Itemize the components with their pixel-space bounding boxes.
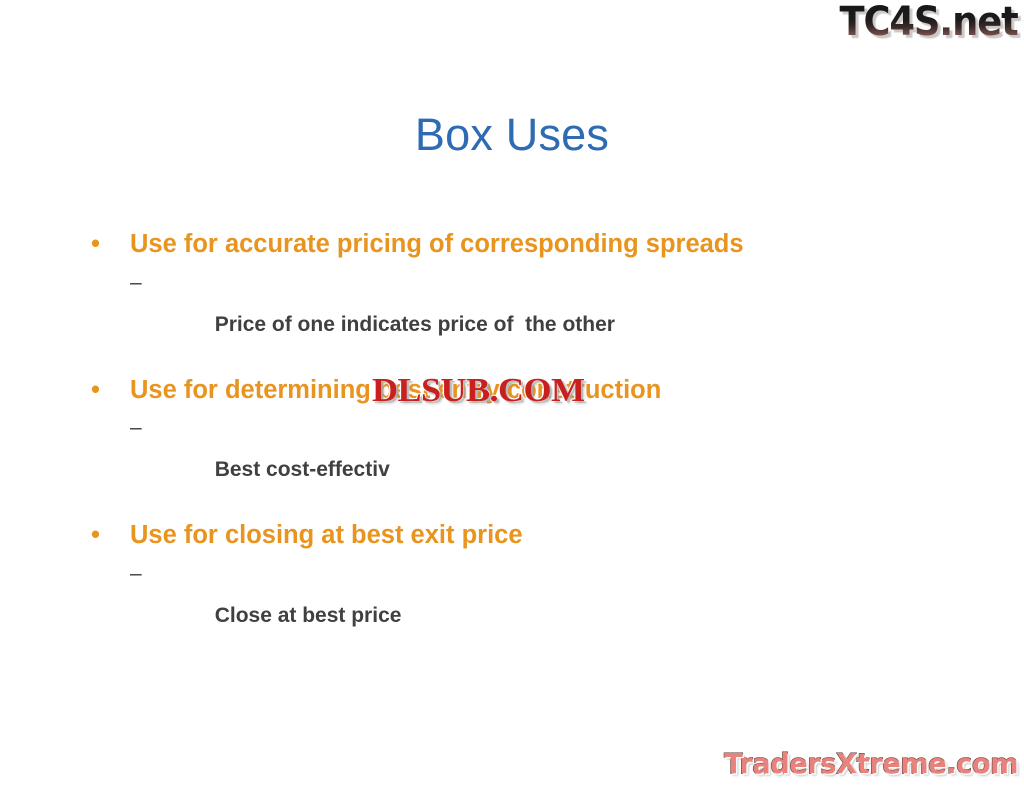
- bullet-dot-icon: •: [91, 232, 100, 258]
- dash-icon: –: [130, 563, 142, 584]
- bullet-item: • Use for accurate pricing of correspond…: [84, 232, 984, 258]
- sub-bullet-item: – Best cost-effectiv: [84, 417, 984, 501]
- tc4s-brand-logo: TC4S.net: [840, 2, 1018, 42]
- slide-canvas: TC4S.net TC4S.net Box Uses • Use for acc…: [0, 0, 1024, 791]
- slide-body-list: • Use for accurate pricing of correspond…: [84, 232, 984, 669]
- bullet-label: Use for accurate pricing of correspondin…: [130, 230, 744, 258]
- bullet-item: • Use for closing at best exit price: [84, 523, 984, 549]
- bullet-label: Use for closing at best exit price: [130, 521, 523, 549]
- dash-icon: –: [130, 417, 142, 438]
- bullet-dot-icon: •: [91, 378, 100, 404]
- page-title: Box Uses: [0, 110, 1024, 160]
- sub-bullet-label: Best cost-effectiv: [215, 458, 390, 481]
- sub-bullet-label: Close at best price: [215, 604, 402, 627]
- sub-bullet-label: Price of one indicates price of the othe…: [215, 313, 615, 336]
- bullet-group: • Use for closing at best exit price – C…: [84, 523, 984, 647]
- bullet-dot-icon: •: [91, 523, 100, 549]
- dash-icon: –: [130, 272, 142, 293]
- sub-bullet-item: – Price of one indicates price of the ot…: [84, 272, 984, 356]
- bullet-group: • Use for accurate pricing of correspond…: [84, 232, 984, 356]
- dlsub-watermark: DLSUB.COM: [372, 374, 584, 408]
- tradersxtreme-footer-logo: TradersXtreme.com: [724, 750, 1018, 778]
- sub-bullet-item: – Close at best price: [84, 563, 984, 647]
